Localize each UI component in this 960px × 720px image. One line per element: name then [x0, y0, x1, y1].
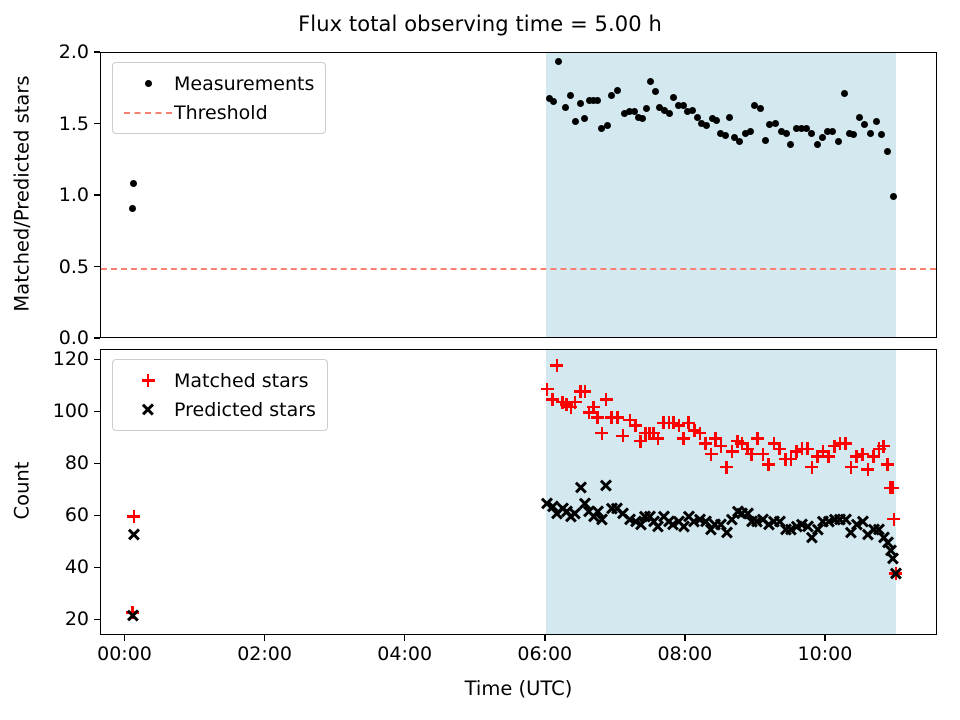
shaded-observing-window — [546, 350, 896, 634]
data-point — [814, 141, 821, 148]
y-tick-mark — [94, 463, 100, 465]
data-point — [867, 130, 874, 137]
legend-item[interactable]: Measurements — [122, 69, 314, 98]
data-point — [819, 134, 826, 141]
data-point — [808, 130, 815, 137]
legend-marker-dot — [122, 73, 174, 95]
y-tick-mark — [94, 359, 100, 361]
figure-title: Flux total observing time = 5.00 h — [0, 12, 960, 36]
x-tick-mark — [124, 635, 126, 641]
y-tick-mark — [94, 515, 100, 517]
legend-counts[interactable]: Matched starsPredicted stars — [112, 359, 328, 431]
data-point — [614, 87, 621, 94]
threshold-line — [101, 268, 936, 270]
x-tick-label: 08:00 — [657, 643, 712, 665]
x-tick-mark — [264, 635, 266, 641]
data-point — [594, 97, 601, 104]
y-tick-label: 0.5 — [59, 256, 89, 278]
y-tick-label: 20 — [65, 608, 89, 630]
legend-item[interactable]: Threshold — [122, 98, 314, 127]
legend-item[interactable]: Matched stars — [122, 366, 316, 395]
legend-dot-icon — [145, 80, 152, 87]
y-axis-label-bottom: Count — [11, 348, 34, 634]
data-point — [562, 104, 569, 111]
data-point — [873, 118, 880, 125]
legend-label: Matched stars — [174, 370, 308, 392]
legend-label: Threshold — [174, 102, 268, 124]
legend-label: Measurements — [174, 73, 314, 95]
legend-marker-cross — [122, 399, 174, 421]
y-tick-label: 1.0 — [59, 184, 89, 206]
x-tick-label: 10:00 — [798, 643, 853, 665]
data-point — [129, 205, 136, 212]
y-tick-label: 80 — [65, 452, 89, 474]
y-tick-label: 60 — [65, 504, 89, 526]
y-tick-mark — [94, 123, 100, 125]
y-tick-label: 40 — [65, 556, 89, 578]
data-point — [890, 193, 897, 200]
x-tick-mark — [544, 635, 546, 641]
data-point — [713, 117, 720, 124]
y-tick-label: 1.5 — [59, 113, 89, 135]
data-point — [757, 105, 764, 112]
x-tick-mark — [404, 635, 406, 641]
legend-marker-plus — [122, 370, 174, 392]
legend-marker-dash — [122, 102, 174, 124]
y-tick-mark — [94, 337, 100, 339]
x-tick-mark — [824, 635, 826, 641]
figure-canvas: Flux total observing time = 5.00 h Match… — [0, 0, 960, 720]
y-tick-mark — [94, 619, 100, 621]
x-tick-label: 02:00 — [237, 643, 292, 665]
data-point — [666, 110, 673, 117]
legend-item[interactable]: Predicted stars — [122, 395, 316, 424]
data-point — [861, 121, 868, 128]
x-tick-label: 00:00 — [97, 643, 152, 665]
y-tick-mark — [94, 266, 100, 268]
legend-label: Predicted stars — [174, 399, 316, 421]
x-axis-label: Time (UTC) — [100, 677, 937, 700]
y-tick-mark — [94, 51, 100, 53]
legend-ratio[interactable]: MeasurementsThreshold — [112, 62, 326, 134]
data-point — [747, 128, 754, 135]
y-tick-label: 100 — [53, 400, 89, 422]
data-point — [841, 90, 848, 97]
data-point — [856, 114, 863, 121]
x-tick-label: 06:00 — [517, 643, 572, 665]
x-tick-label: 04:00 — [377, 643, 432, 665]
y-tick-label: 0.0 — [59, 327, 89, 349]
y-axis-label-top: Matched/Predicted stars — [11, 51, 34, 337]
y-tick-label: 2.0 — [59, 41, 89, 63]
data-point — [762, 137, 769, 144]
data-point — [652, 88, 659, 95]
data-point — [783, 130, 790, 137]
data-point — [772, 120, 779, 127]
y-tick-label: 120 — [53, 348, 89, 370]
data-point — [130, 180, 137, 187]
y-tick-mark — [94, 411, 100, 413]
data-point — [670, 94, 677, 101]
data-point — [555, 58, 562, 65]
x-tick-mark — [684, 635, 686, 641]
y-tick-mark — [94, 194, 100, 196]
data-point — [577, 100, 584, 107]
y-tick-mark — [94, 567, 100, 569]
legend-dashed-line-icon — [124, 112, 172, 114]
